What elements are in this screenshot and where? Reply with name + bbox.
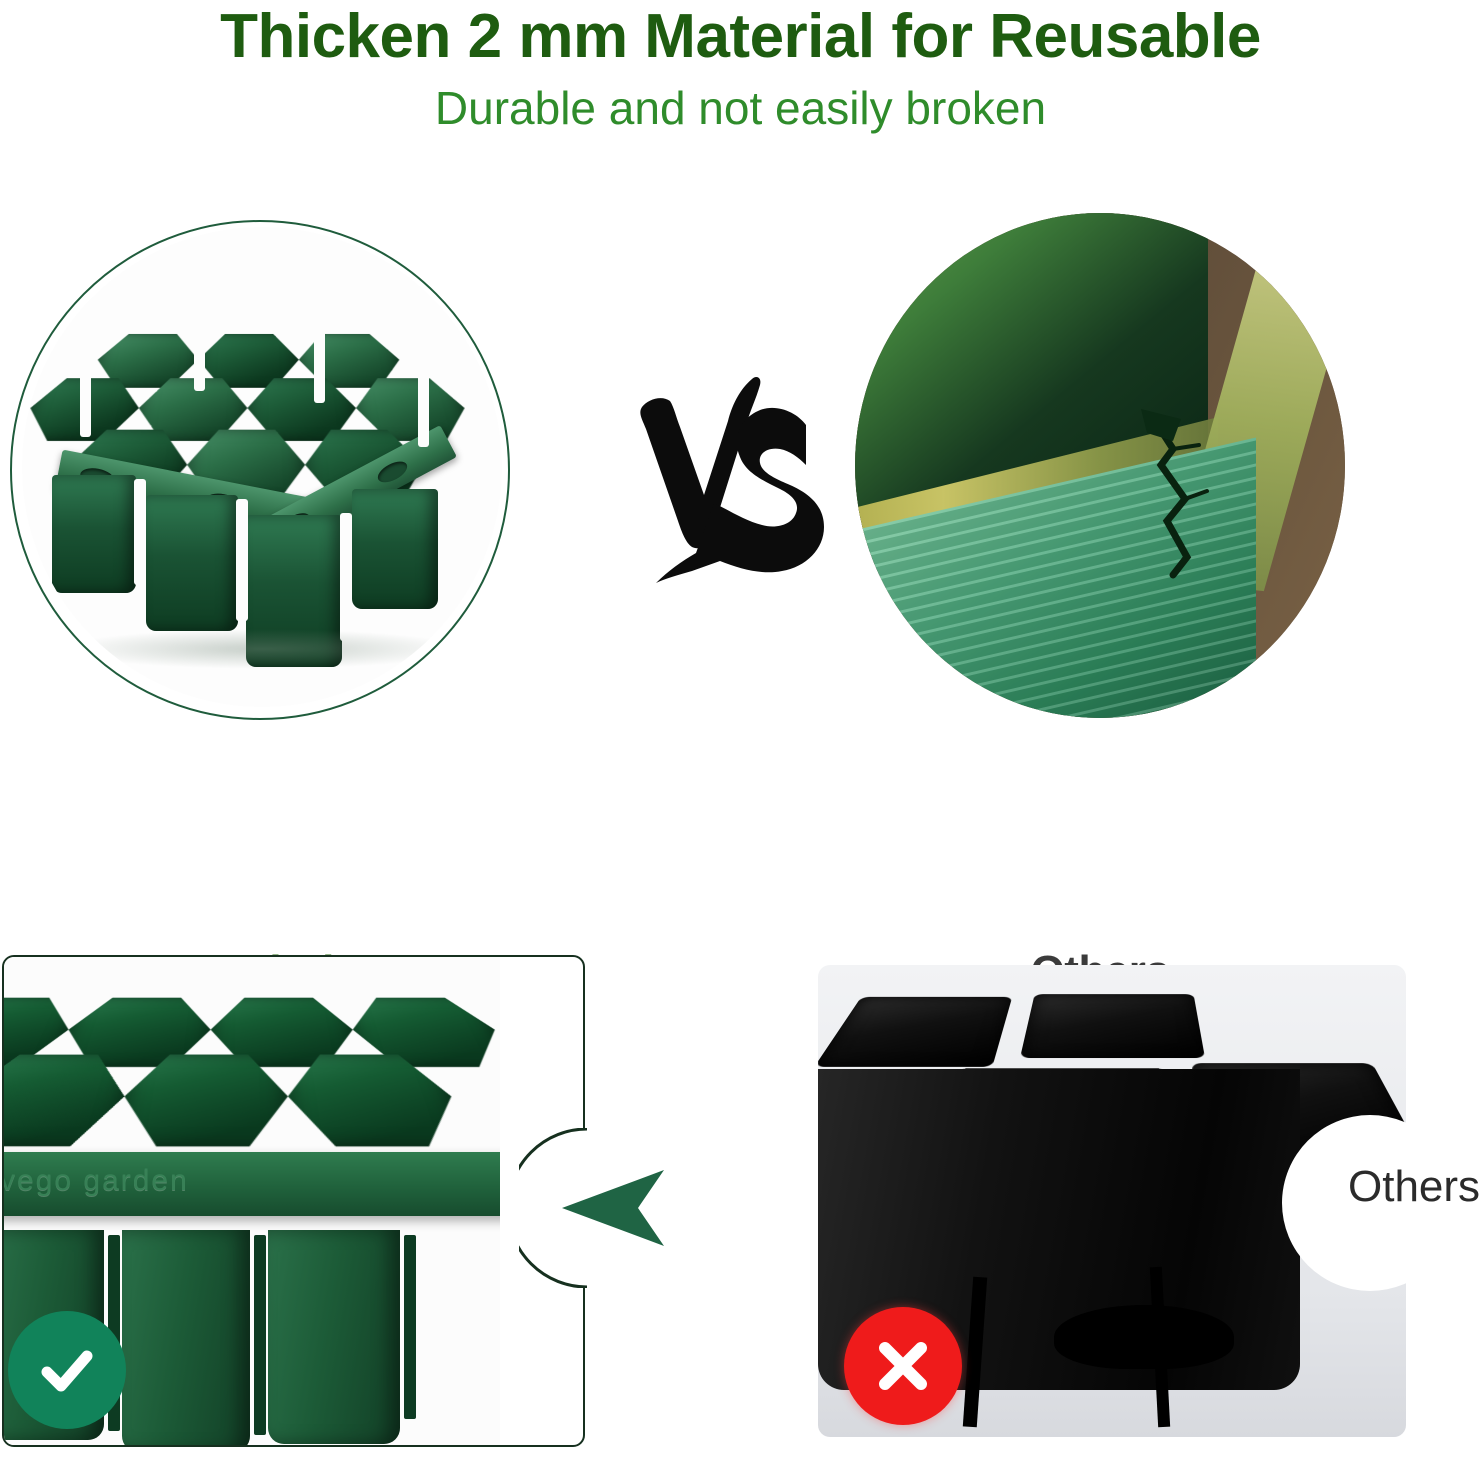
others-detail-panel xyxy=(818,965,1406,1437)
tray-tear xyxy=(1054,1305,1234,1369)
tray-slot xyxy=(340,513,352,641)
check-glyph xyxy=(31,1334,103,1406)
others-product-photo xyxy=(855,213,1345,718)
arrow-glyph xyxy=(560,1158,670,1258)
tray-rib xyxy=(404,1235,416,1419)
green-tray-illustration: vego garden xyxy=(22,227,502,707)
tray-slot xyxy=(418,297,429,447)
tray-cup xyxy=(352,489,438,609)
tray-slot xyxy=(80,287,91,437)
tray-top-cells xyxy=(2,997,500,1132)
x-icon xyxy=(844,1307,962,1425)
check-icon xyxy=(8,1311,126,1429)
tray-cell xyxy=(818,997,1012,1067)
tray-cell xyxy=(112,1053,292,1149)
versus-mark xyxy=(600,355,850,605)
header: Thicken 2 mm Material for Reusable Durab… xyxy=(0,0,1481,134)
ours-detail-panel: vego garden xyxy=(2,955,585,1447)
tray-cell xyxy=(1020,994,1205,1058)
headline: Thicken 2 mm Material for Reusable xyxy=(0,4,1481,69)
x-glyph xyxy=(867,1330,939,1402)
tray-cup xyxy=(146,495,238,631)
tray-cup xyxy=(268,1230,400,1444)
black-tray-illustration xyxy=(818,965,1406,1437)
ours-product-photo: vego garden xyxy=(22,227,502,707)
tray-cup xyxy=(52,475,136,593)
ours-detail-photo: vego garden xyxy=(2,957,500,1445)
tray-slot xyxy=(134,479,146,585)
product-comparison-infographic: Thicken 2 mm Material for Reusable Durab… xyxy=(0,0,1481,1457)
left-arrow-icon xyxy=(560,1158,670,1258)
subheadline: Durable and not easily broken xyxy=(0,83,1481,134)
cracked-tray-illustration xyxy=(855,213,1345,718)
crack-overlay xyxy=(855,213,1345,718)
tray-cell xyxy=(284,1053,473,1149)
embossed-brand-text: vego garden xyxy=(2,1164,189,1198)
tray-slot xyxy=(314,263,325,403)
green-tray-closeup-illustration: vego garden xyxy=(2,957,500,1445)
tray-slot xyxy=(236,499,248,621)
tray-cell xyxy=(2,1053,134,1149)
others-detail-caption: Others xyxy=(1348,1162,1480,1212)
comparison-row: vego garden xyxy=(0,205,1481,725)
tray-slot xyxy=(194,261,205,391)
tray-cup xyxy=(122,1230,250,1445)
drain-hole xyxy=(375,457,411,486)
vs-icon xyxy=(600,355,850,605)
tray-rib xyxy=(254,1235,266,1435)
photo-floor-shadow xyxy=(60,629,463,669)
